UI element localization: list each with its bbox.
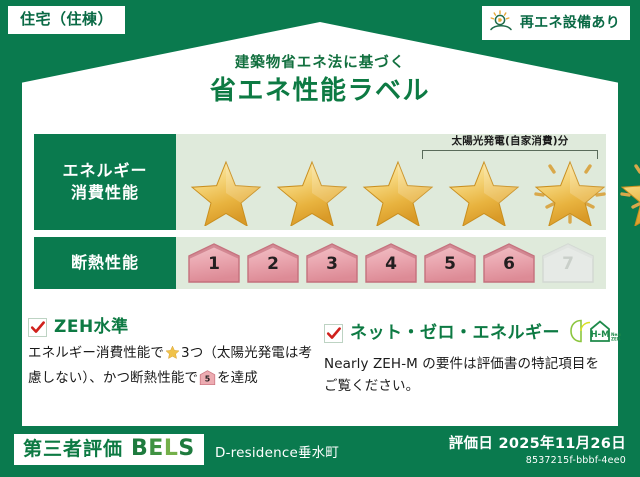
evaluation-date: 評価日 2025年11月26日 [449, 436, 626, 453]
nze-checkbox-icon [324, 324, 343, 343]
insulation-badge-number: 6 [481, 256, 537, 273]
renewable-equipment-badge: 再エネ設備あり [482, 6, 630, 40]
zeh-body-star-text: 3つ（太陽光発電 [181, 345, 285, 361]
insulation-badge-number: 2 [245, 256, 301, 273]
insulation-badge-4: 4 [363, 241, 419, 285]
insulation-badge-number: 1 [186, 256, 242, 273]
title-block: 建築物省エネ法に基づく 省エネ性能ラベル [0, 56, 640, 106]
zeh-logo-main: H-M [590, 330, 609, 340]
energy-row-label-line2: 消費性能 [71, 182, 139, 204]
energy-row-body: 太陽光発電(自家消費)分 [176, 134, 606, 230]
info-sections: ZEH水準 エネルギー消費性能で3つ（太陽光発電は考慮しない）、かつ断熱性能で5… [28, 318, 612, 398]
nze-section-header: ネット・ゼロ・エネルギー H-M Nearly ZEH-M [324, 318, 612, 348]
energy-performance-label: 住宅（住棟） 再エネ設備あり 建築物省エネ法に基づく 省エネ性能ラベル [0, 0, 640, 477]
evaluation-id: 8537215f-bbbf-4ee0 [449, 456, 626, 466]
bels-logo-box: 第三者評価 BELS [14, 434, 204, 465]
star-rating [184, 152, 640, 226]
zeh-section: ZEH水準 エネルギー消費性能で3つ（太陽光発電は考慮しない）、かつ断熱性能で5… [28, 318, 316, 398]
svg-text:5: 5 [205, 375, 211, 384]
energy-row-label-line1: エネルギー [62, 160, 147, 182]
nze-heading: ネット・ゼロ・エネルギー [350, 325, 560, 342]
insulation-badge-6: 6 [481, 241, 537, 285]
bels-wordmark: BELS [131, 438, 195, 460]
insulation-badge-number: 5 [422, 256, 478, 273]
insulation-badge-2: 2 [245, 241, 301, 285]
insulation-row-body: 1 2 [176, 237, 606, 289]
performance-rows: エネルギー 消費性能 太陽光発電(自家消費)分 [34, 134, 606, 296]
category-tag: 住宅（住棟） [8, 6, 125, 34]
third-party-label: 第三者評価 [23, 440, 123, 459]
inline-insulation-badge-icon: 5 [199, 374, 216, 390]
zeh-heading: ZEH水準 [54, 319, 129, 336]
solar-annotation-label: 太陽光発電(自家消費)分 [422, 136, 598, 148]
insulation-badge-number: 7 [540, 256, 596, 273]
footer-bar: 第三者評価 BELS D-residence垂水町 評価日 2025年11月26… [0, 426, 640, 477]
insulation-badge-7: 7 [540, 241, 596, 285]
star-6 [614, 152, 640, 226]
zeh-section-header: ZEH水準 [28, 318, 316, 337]
inline-star-icon [165, 348, 180, 364]
zeh-body-part1: エネルギー消費性能で [28, 345, 164, 361]
evaluation-info: 評価日 2025年11月26日 8537215f-bbbf-4ee0 [449, 436, 626, 466]
star-3 [356, 152, 440, 226]
star-2 [270, 152, 354, 226]
energy-row-header: エネルギー 消費性能 [34, 134, 176, 230]
energy-performance-row: エネルギー 消費性能 太陽光発電(自家消費)分 [34, 134, 606, 230]
page-title: 省エネ性能ラベル [0, 77, 640, 106]
star-5 [528, 152, 612, 226]
insulation-badge-number: 3 [304, 256, 360, 273]
insulation-badge-5: 5 [422, 241, 478, 285]
nze-section: ネット・ゼロ・エネルギー H-M Nearly ZEH-M Nearly ZEH… [324, 318, 612, 398]
star-4 [442, 152, 526, 226]
renewable-badge-label: 再エネ設備あり [520, 16, 620, 30]
zeh-logo-sub2: ZEH-M [611, 337, 621, 342]
zeh-checkbox-icon [28, 318, 47, 337]
insulation-badge-1: 1 [186, 241, 242, 285]
zeh-body-text: エネルギー消費性能で3つ（太陽光発電は考慮しない）、かつ断熱性能で5を達成 [28, 343, 316, 394]
zeh-body-part3: を達成 [217, 370, 258, 386]
insulation-row-label: 断熱性能 [71, 252, 139, 274]
title-subtitle: 建築物省エネ法に基づく [0, 56, 640, 72]
insulation-performance-row: 断熱性能 1 [34, 237, 606, 289]
nze-body-text: Nearly ZEH-M の要件は評価書の特記項目をご覧ください。 [324, 354, 612, 398]
insulation-badge-list: 1 2 [186, 237, 596, 289]
star-1 [184, 152, 268, 226]
evaluation-date-value: 2025年11月26日 [498, 436, 626, 452]
zeh-m-logo-icon: H-M Nearly ZEH-M [569, 318, 621, 348]
insulation-row-header: 断熱性能 [34, 237, 176, 289]
insulation-badge-number: 4 [363, 256, 419, 273]
insulation-badge-3: 3 [304, 241, 360, 285]
evaluation-date-label: 評価日 [449, 436, 493, 452]
building-name: D-residence垂水町 [215, 447, 339, 461]
solar-sun-icon [488, 10, 514, 35]
